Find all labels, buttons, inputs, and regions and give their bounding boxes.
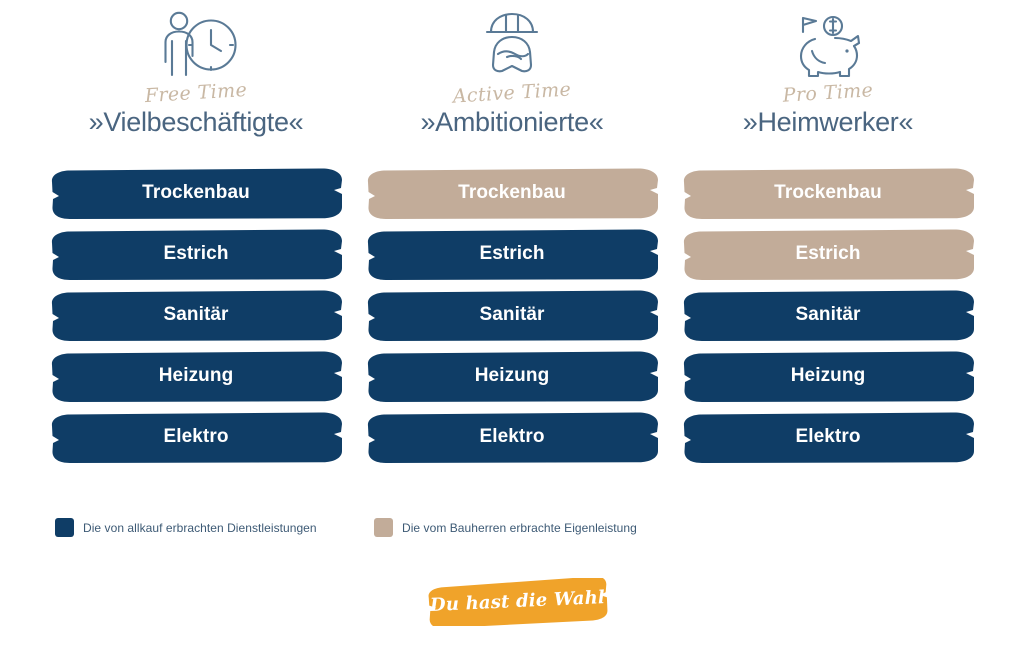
service-row-heizung[interactable]: Heizung [684,349,972,404]
legend-item-bauherr: Die vom Bauherren erbrachte Eigenleistun… [374,518,637,537]
service-label: Trockenbau [52,166,340,221]
person-with-clock-icon [52,0,340,78]
service-label: Trockenbau [368,166,656,221]
service-label: Sanitär [368,288,656,343]
service-label: Estrich [52,227,340,282]
service-label: Heizung [368,349,656,404]
service-label: Estrich [684,227,972,282]
legend-label: Die von allkauf erbrachten Dienstleistun… [83,521,317,535]
legend-label: Die vom Bauherren erbrachte Eigenleistun… [402,521,637,535]
legend-swatch-beige [374,518,393,537]
service-rows: Trockenbau Estrich Sanitär [684,166,972,471]
service-label: Elektro [368,410,656,465]
service-row-trockenbau[interactable]: Trockenbau [684,166,972,221]
service-label: Heizung [52,349,340,404]
package-column-vielbeschaeftigte: Free Time »Vielbeschäftigte« Trockenbau … [52,0,340,152]
service-rows: Trockenbau Estrich Sanitär [52,166,340,471]
service-row-sanitaer[interactable]: Sanitär [368,288,656,343]
package-column-heimwerker: Pro Time »Heimwerker« Trockenbau Estrich [684,0,972,152]
service-row-heizung[interactable]: Heizung [368,349,656,404]
package-columns: Free Time »Vielbeschäftigte« Trockenbau … [0,0,1024,480]
service-label: Trockenbau [684,166,972,221]
column-header: Active Time »Ambitionierte« [368,0,656,152]
service-row-estrich[interactable]: Estrich [368,227,656,282]
service-row-elektro[interactable]: Elektro [368,410,656,465]
package-column-ambitionierte: Active Time »Ambitionierte« Trockenbau E… [368,0,656,152]
legend-item-allkauf: Die von allkauf erbrachten Dienstleistun… [55,518,317,537]
service-label: Heizung [684,349,972,404]
column-title: »Ambitionierte« [368,106,656,138]
worker-helmet-icon [368,0,656,78]
service-row-sanitaer[interactable]: Sanitär [684,288,972,343]
piggy-bank-icon [684,0,972,78]
service-row-elektro[interactable]: Elektro [684,410,972,465]
service-label: Sanitär [52,288,340,343]
service-row-estrich[interactable]: Estrich [52,227,340,282]
service-row-sanitaer[interactable]: Sanitär [52,288,340,343]
service-label: Sanitär [684,288,972,343]
legend-swatch-navy [55,518,74,537]
badge-label: Du hast die Wahl [424,574,611,630]
service-rows: Trockenbau Estrich Sanitär [368,166,656,471]
service-row-trockenbau[interactable]: Trockenbau [52,166,340,221]
du-hast-die-wahl-badge: Du hast die Wahl [425,578,610,626]
legend: Die von allkauf erbrachten Dienstleistun… [0,518,1024,548]
column-title: »Vielbeschäftigte« [52,106,340,138]
leistungspakete-page: Free Time »Vielbeschäftigte« Trockenbau … [0,0,1024,653]
service-row-trockenbau[interactable]: Trockenbau [368,166,656,221]
service-row-elektro[interactable]: Elektro [52,410,340,465]
service-label: Elektro [52,410,340,465]
column-header: Pro Time »Heimwerker« [684,0,972,152]
service-row-heizung[interactable]: Heizung [52,349,340,404]
column-header: Free Time »Vielbeschäftigte« [52,0,340,152]
service-label: Elektro [684,410,972,465]
service-label: Estrich [368,227,656,282]
service-row-estrich[interactable]: Estrich [684,227,972,282]
column-title: »Heimwerker« [684,106,972,138]
